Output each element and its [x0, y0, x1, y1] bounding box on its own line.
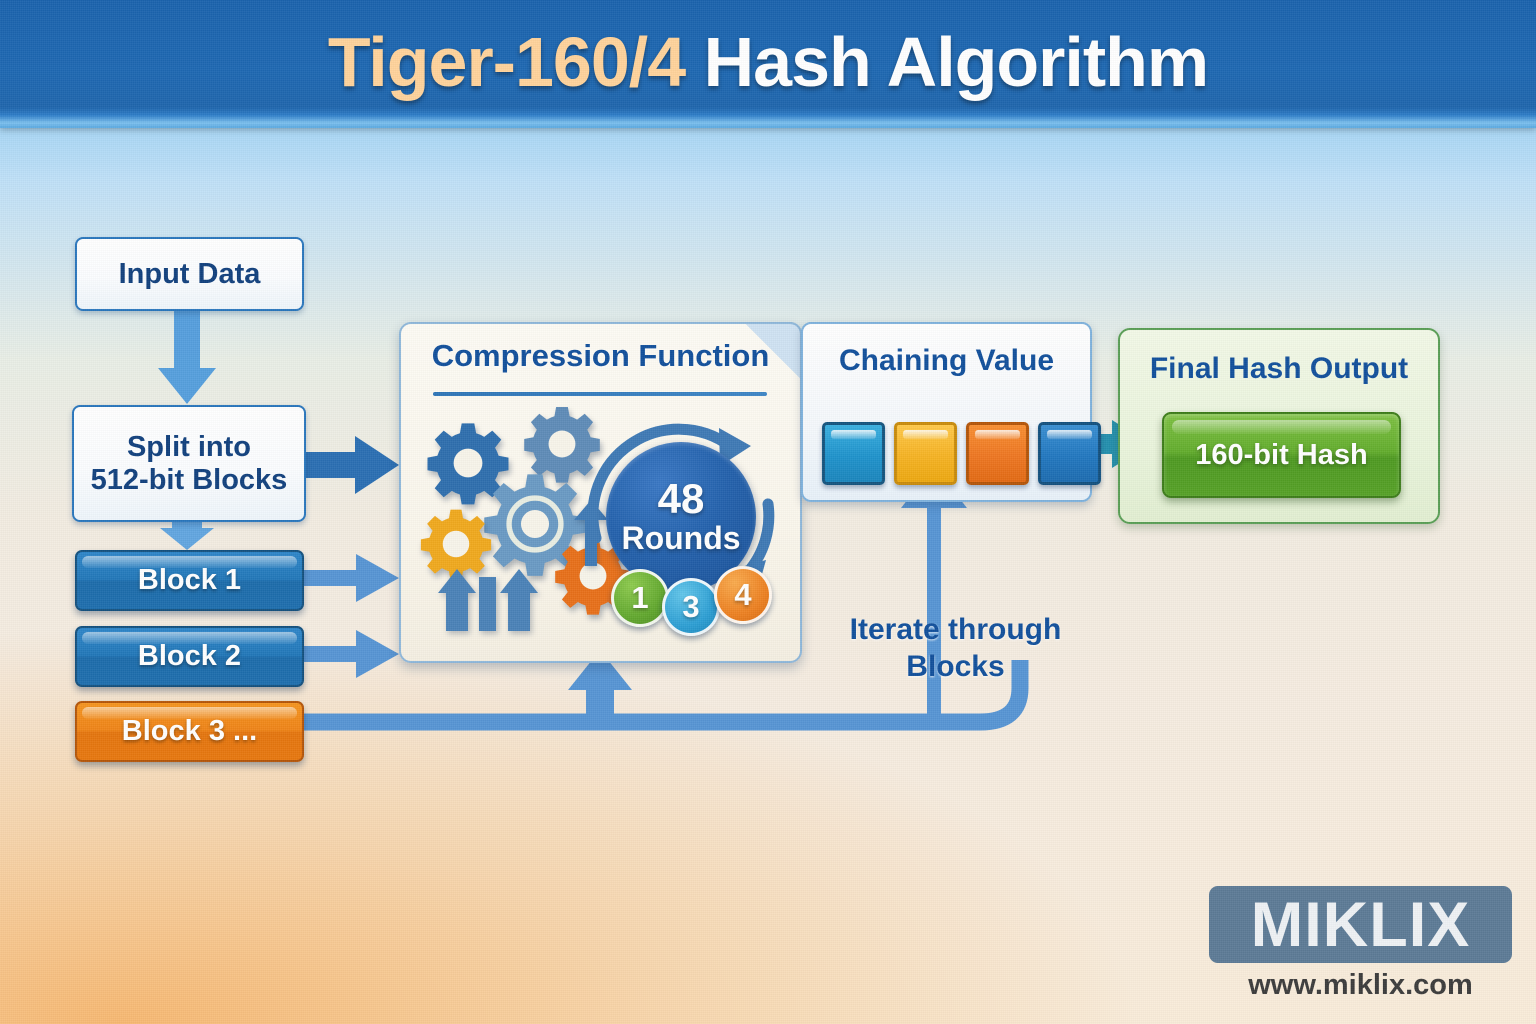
round-badge-4: 4	[714, 566, 772, 624]
arrow-split-to-blocks	[160, 518, 214, 550]
chaining-square-3	[966, 422, 1029, 485]
up-arrows-icon	[438, 567, 538, 631]
gloss-highlight	[975, 430, 1020, 439]
gloss-highlight	[82, 707, 297, 719]
title-divider	[433, 392, 767, 396]
block-2-box[interactable]: Block 2	[75, 626, 304, 687]
page-title: Tiger-160/4 Hash Algorithm	[328, 22, 1208, 102]
rounds-number: 48	[658, 478, 705, 520]
infographic-canvas: Tiger-160/4 Hash Algorithm	[0, 0, 1536, 1024]
block-3-label: Block 3 ...	[122, 715, 257, 748]
compression-panel-title: Compression Function	[401, 338, 800, 374]
iterate-through-blocks-label: Iterate through Blocks	[838, 612, 1073, 685]
arrow-block1-to-compression	[302, 554, 399, 602]
round-badge-1: 1	[611, 569, 669, 627]
input-data-box[interactable]: Input Data	[75, 237, 304, 311]
block-3-box[interactable]: Block 3 ...	[75, 701, 304, 762]
chaining-squares-group	[822, 422, 1101, 485]
split-into-blocks-box[interactable]: Split into 512-bit Blocks	[72, 405, 306, 522]
gloss-highlight	[82, 632, 297, 644]
title-bar: Tiger-160/4 Hash Algorithm	[0, 0, 1536, 128]
gloss-highlight	[82, 556, 297, 568]
split-box-line2: 512-bit Blocks	[91, 464, 288, 496]
gloss-highlight	[1047, 430, 1092, 439]
final-hash-output-panel: Final Hash Output 160-bit Hash	[1118, 328, 1440, 524]
block-2-label: Block 2	[138, 640, 241, 673]
chaining-panel-title: Chaining Value	[803, 344, 1090, 378]
hash-output-pill[interactable]: 160-bit Hash	[1162, 412, 1401, 498]
iterate-line-2: Blocks	[838, 649, 1073, 686]
chaining-value-panel: Chaining Value	[801, 322, 1092, 502]
chaining-square-2	[894, 422, 957, 485]
watermark-logo: MIKLIX	[1209, 886, 1512, 963]
gloss-highlight	[1172, 420, 1391, 434]
watermark-url: www.miklix.com	[1209, 969, 1512, 1002]
chaining-square-4	[1038, 422, 1101, 485]
chaining-square-1	[822, 422, 885, 485]
round-badge-3: 3	[662, 578, 720, 636]
watermark: MIKLIX www.miklix.com	[1209, 886, 1512, 1002]
rounds-label: Rounds	[621, 522, 740, 556]
iterate-line-1: Iterate through	[838, 612, 1073, 649]
block-1-box[interactable]: Block 1	[75, 550, 304, 611]
hash-output-label: 160-bit Hash	[1195, 439, 1367, 472]
arrow-split-to-compression	[302, 436, 399, 494]
block-1-label: Block 1	[138, 564, 241, 597]
gloss-highlight	[903, 430, 948, 439]
title-accent-text: Tiger-160/4	[328, 23, 685, 101]
split-box-line1: Split into	[91, 431, 288, 463]
arrow-block2-to-compression	[302, 630, 399, 678]
gloss-highlight	[831, 430, 876, 439]
title-main-text: Hash Algorithm	[685, 23, 1208, 101]
arrow-input-to-split	[158, 308, 216, 404]
final-panel-title: Final Hash Output	[1120, 352, 1438, 386]
